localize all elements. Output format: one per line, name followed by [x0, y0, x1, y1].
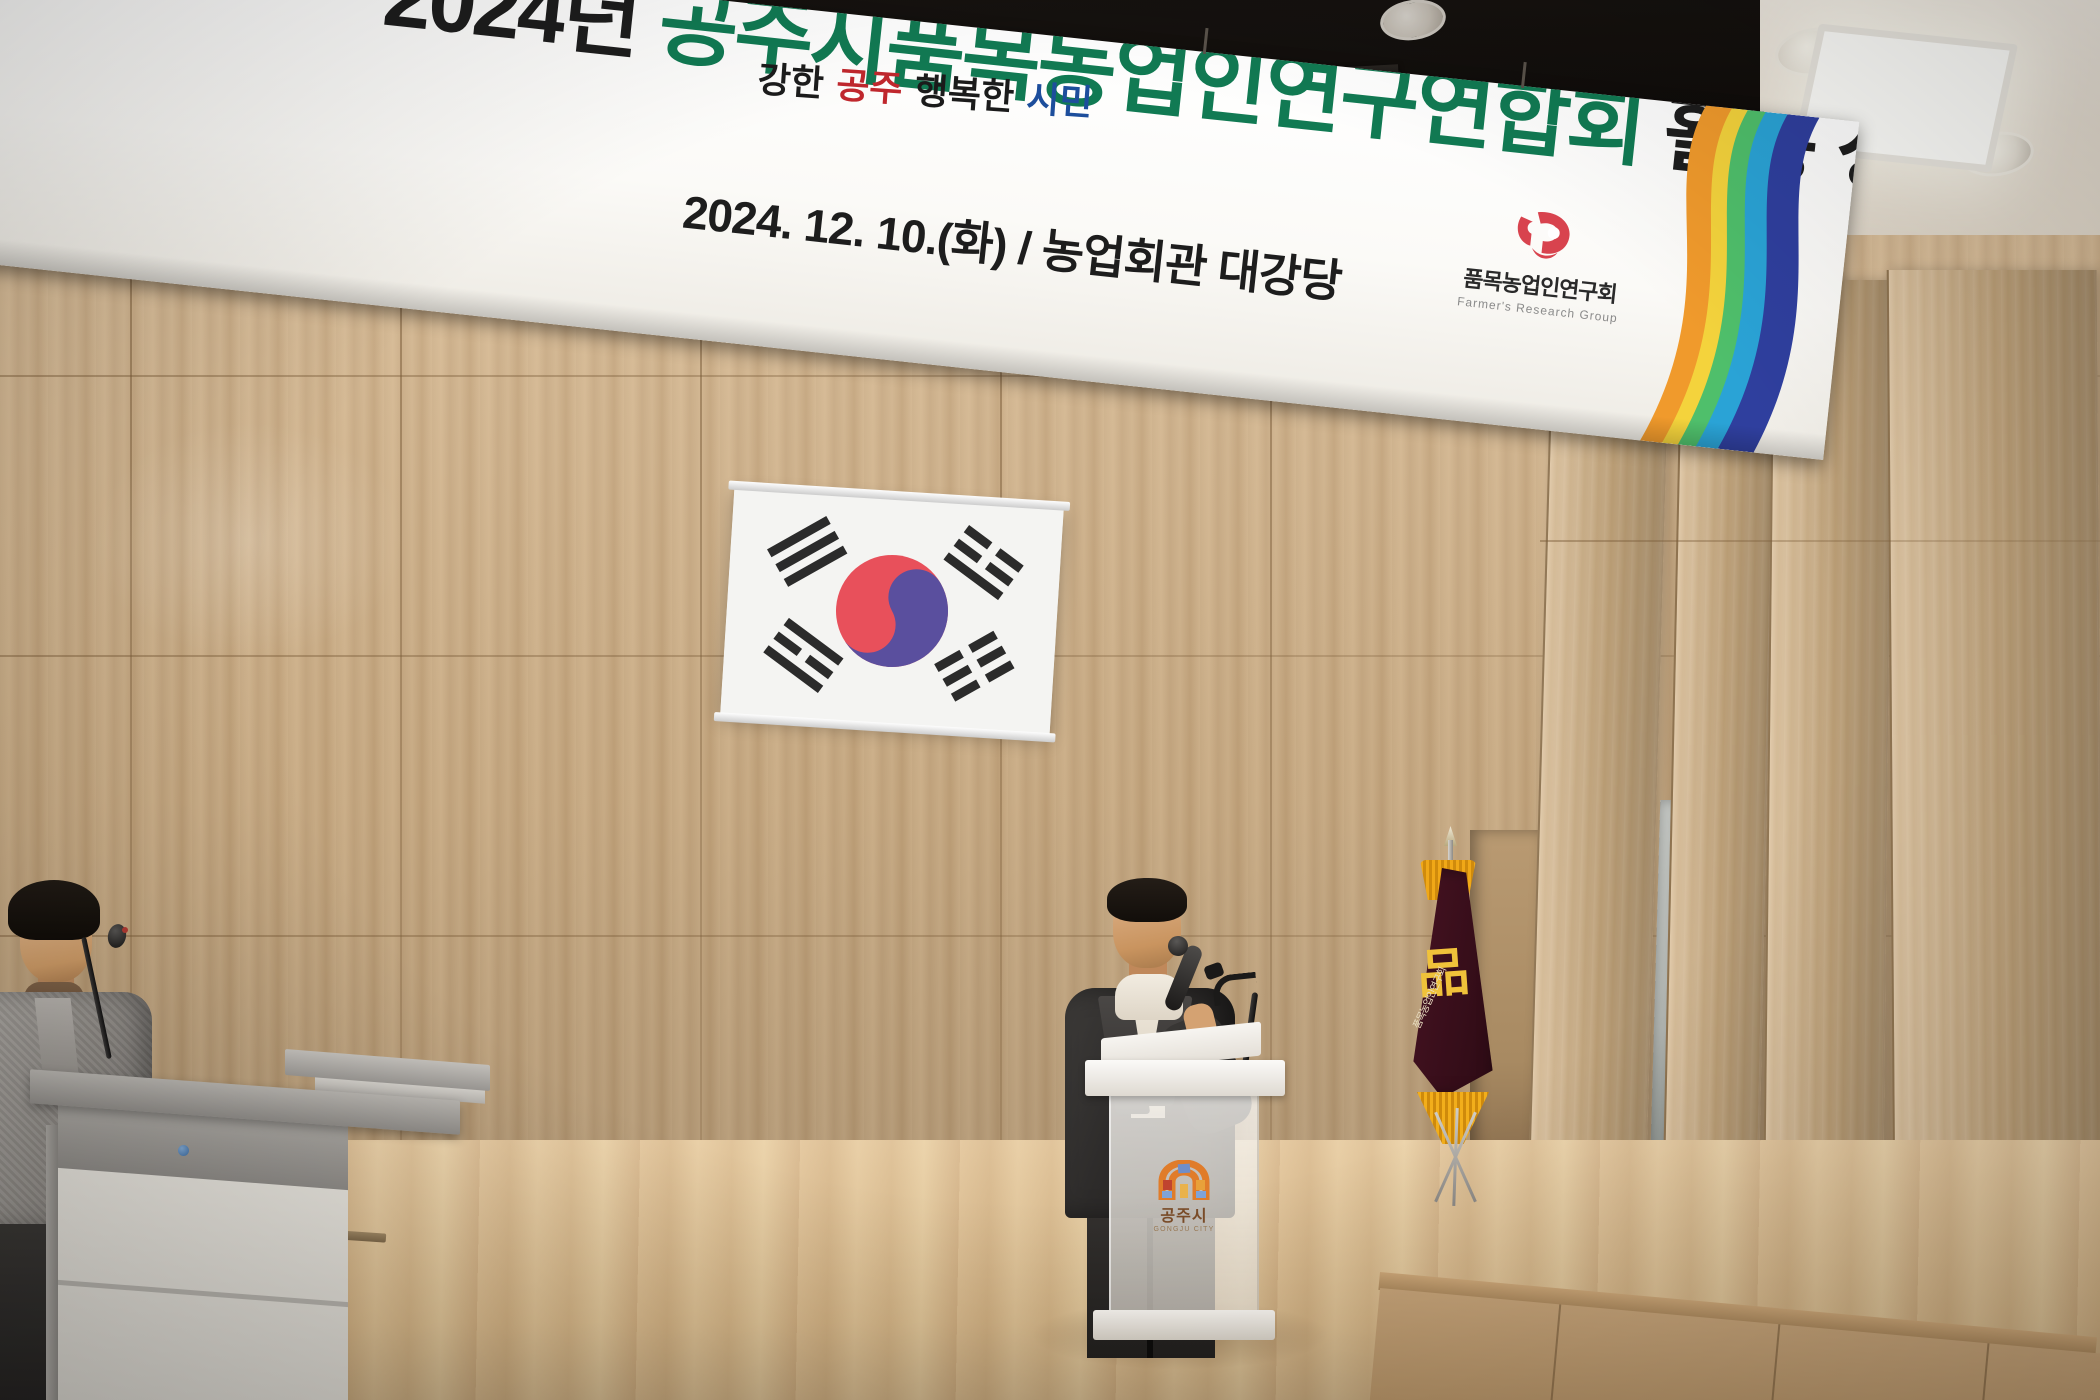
banner-subtitle: 2024. 12. 10.(화) / 농업회관 대강당	[680, 176, 1345, 312]
gongju-city-swoosh-logo	[0, 0, 335, 127]
banner-rainbow-stripe	[1594, 97, 1859, 460]
podium-top-surface	[1085, 1060, 1285, 1096]
taegeuk-symbol-icon	[720, 487, 1064, 735]
desk-front-panel	[58, 1162, 348, 1400]
left-lectern-desk	[30, 1085, 460, 1400]
slogan-part-1: 강한	[756, 59, 838, 107]
pennant-tripod-stand	[1400, 1108, 1512, 1208]
speaker-hair	[1107, 878, 1187, 922]
left-person-hair	[8, 880, 100, 940]
banner-title-year: 2024년	[379, 0, 643, 70]
desk-microphone-tip-icon	[122, 927, 128, 933]
slogan-part-2: 공주	[835, 64, 904, 111]
podium-logo-korean: 공주시	[1143, 1202, 1225, 1226]
podium-logo-english: GONGJU CITY	[1143, 1226, 1225, 1233]
podium-gongju-logo: 공주시 GONGJU CITY	[1143, 1160, 1225, 1233]
slogan-part-3: 행복한	[901, 69, 1028, 120]
acrylic-podium: 공주시 GONGJU CITY	[1095, 1060, 1275, 1350]
farmers-research-group-mark-icon	[1502, 201, 1588, 273]
ceremonial-pennant-flag: 品 품목농업인연구회	[1378, 840, 1528, 1170]
slogan-part-4: 시민	[1025, 78, 1094, 125]
wall-panel-fin	[1887, 270, 2100, 1200]
korean-national-flag	[720, 487, 1064, 735]
gongju-city-arch-icon	[1156, 1160, 1212, 1200]
photo-scene: 공주시 GONGJU CITY 2024년 공주시품목농업인연구연합회 활동 성…	[0, 0, 2100, 1400]
podium-base	[1093, 1310, 1275, 1340]
desk-indicator-light	[178, 1145, 189, 1156]
